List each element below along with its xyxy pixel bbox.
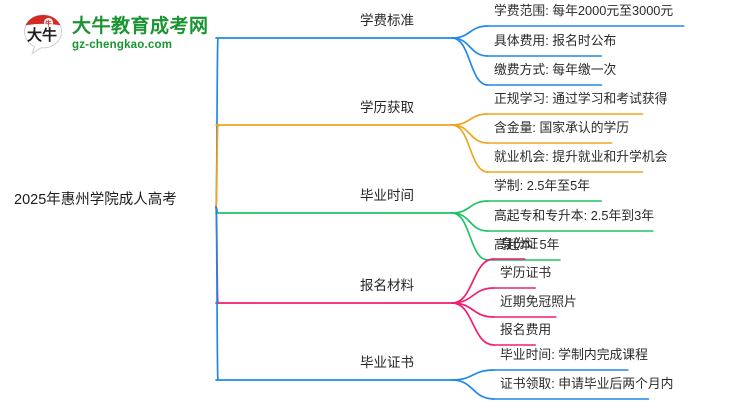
mindmap-branch-label-5[interactable]: 毕业证书 (360, 356, 414, 370)
logo-subtitle: gz-chengkao.com (72, 39, 209, 51)
svg-text:大牛: 大牛 (27, 26, 57, 44)
mindmap-leaf-label-4-3[interactable]: 近期免冠照片 (500, 296, 577, 309)
mindmap-leaf-label-5-2[interactable]: 证书领取: 申请毕业后两个月内 (500, 378, 673, 391)
da-niu-speech-bubble-logo-icon: 牛 大牛 (22, 13, 64, 55)
mindmap-root-label[interactable]: 2025年惠州学院成人高考 (14, 193, 177, 208)
mindmap-leaf-label-5-1[interactable]: 毕业时间: 学制内完成课程 (500, 349, 648, 362)
site-logo[interactable]: 牛 大牛 大牛教育成考网 gz-chengkao.com (22, 12, 232, 56)
mindmap-leaf-label-2-2[interactable]: 含金量: 国家承认的学历 (494, 122, 629, 135)
mindmap-leaf-label-1-3[interactable]: 缴费方式: 每年缴一次 (494, 64, 616, 77)
mindmap-branch-label-3[interactable]: 毕业时间 (360, 189, 414, 203)
mindmap-leaf-label-1-2[interactable]: 具体费用: 报名时公布 (494, 35, 616, 48)
mindmap-leaf-label-4-4[interactable]: 报名费用 (500, 324, 551, 337)
mindmap-leaf-label-4-1[interactable]: 身份证 (500, 238, 538, 251)
mindmap-leaf-label-3-2[interactable]: 高起专和专升本: 2.5年到3年 (494, 210, 654, 223)
logo-text-block: 大牛教育成考网 gz-chengkao.com (72, 17, 209, 51)
mindmap-leaf-label-1-1[interactable]: 学费范围: 每年2000元至3000元 (494, 5, 673, 18)
logo-title: 大牛教育成考网 (72, 17, 209, 37)
mindmap-canvas: 牛 大牛 大牛教育成考网 gz-chengkao.com 2025年惠州学院成人… (0, 0, 750, 410)
mindmap-leaf-label-4-2[interactable]: 学历证书 (500, 267, 551, 280)
mindmap-leaf-label-3-1[interactable]: 学制: 2.5年至5年 (494, 180, 590, 193)
mindmap-branch-label-4[interactable]: 报名材料 (360, 279, 414, 293)
mindmap-branch-label-1[interactable]: 学费标准 (360, 14, 414, 28)
mindmap-leaf-label-2-1[interactable]: 正规学习: 通过学习和考试获得 (494, 93, 667, 106)
mindmap-leaf-label-2-3[interactable]: 就业机会: 提升就业和升学机会 (494, 151, 667, 164)
mindmap-branch-label-2[interactable]: 学历获取 (360, 101, 414, 115)
